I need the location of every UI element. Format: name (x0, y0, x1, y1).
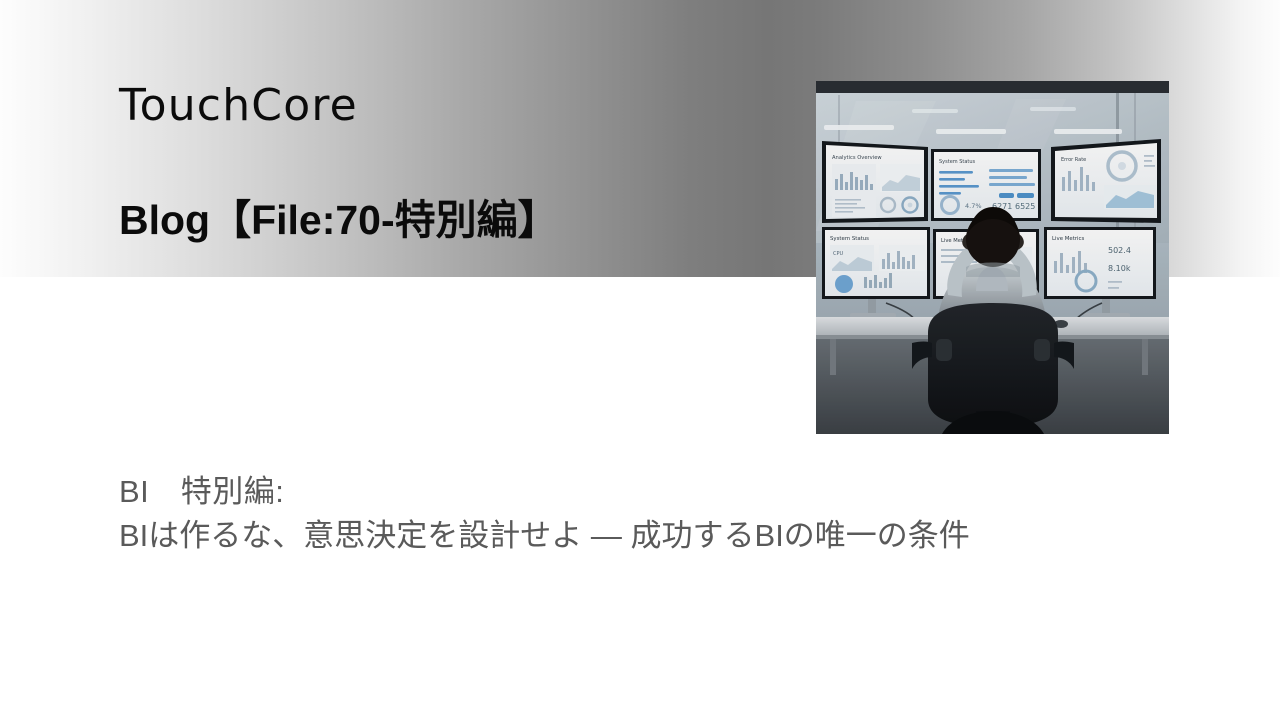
hero-image-illustration: Analytics Overview System Status (816, 81, 1169, 434)
hero-image: Analytics Overview System Status (816, 81, 1169, 434)
subtitle-line-1: BI 特別編: (119, 470, 970, 514)
subtitle-line-2: BIは作るな、意思決定を設計せよ ― 成功するBIの唯一の条件 (119, 514, 970, 558)
brand-logo: TouchCore (119, 84, 358, 128)
page-title: Blog【File:70-特別編】 (119, 198, 559, 244)
subtitle-block: BI 特別編: BIは作るな、意思決定を設計せよ ― 成功するBIの唯一の条件 (119, 470, 970, 558)
